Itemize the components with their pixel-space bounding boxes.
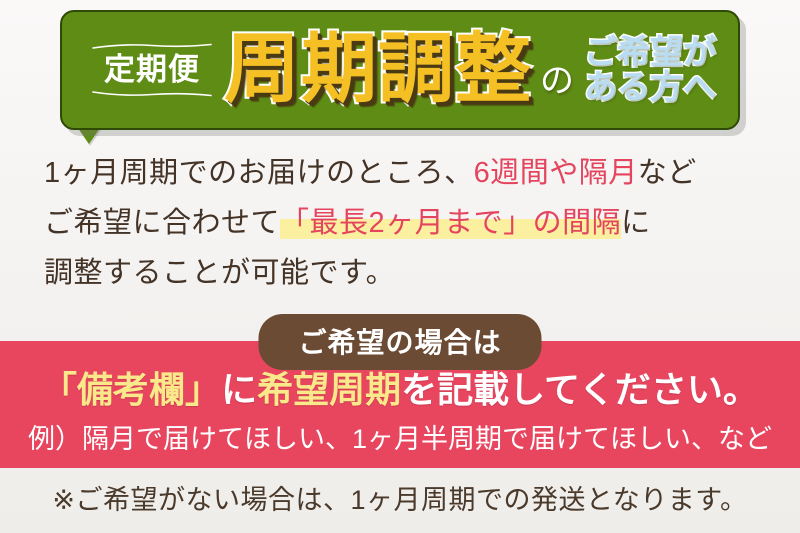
instruction-action: を記載してください。 <box>401 369 759 410</box>
body-line-1-text-a: 1ヶ月周期でのお届けのところ、 <box>44 157 474 189</box>
body-line-2-text-a: ご希望に合わせて <box>44 207 280 239</box>
body-line-2-text-b: に <box>621 207 651 239</box>
subscription-cycle-banner: 定期便 周期調整 の ご希望が ある方へ 1ヶ月周期でのお届けのところ、6週間や… <box>0 0 800 533</box>
banner-header: 定期便 周期調整 の ご希望が ある方へ <box>0 0 800 150</box>
body-line-2: ご希望に合わせて「最長2ヶ月まで」の間隔に <box>0 198 800 248</box>
header-target-line-1: ご希望が <box>584 35 716 70</box>
header-possessive-particle: の <box>540 64 574 98</box>
header-main-title: 周期調整 <box>224 32 532 108</box>
speech-bubble-tail <box>78 128 100 144</box>
body-paragraph: 1ヶ月周期でのお届けのところ、6週間や隔月など ご希望に合わせて「最長2ヶ月まで… <box>0 148 800 298</box>
body-line-1-emphasis: 6週間や隔月 <box>474 157 638 189</box>
body-line-1: 1ヶ月周期でのお届けのところ、6週間や隔月など <box>0 148 800 198</box>
subscription-label: 定期便 <box>104 50 200 91</box>
body-line-3: 調整することが可能です。 <box>0 248 800 298</box>
header-green-box: 定期便 周期調整 の ご希望が ある方へ <box>60 10 740 130</box>
instruction-keyword: 希望周期 <box>257 369 401 410</box>
instruction-example: 例）隔月で届けてほしい、1ヶ月半周期で届けてほしい、など <box>0 417 800 456</box>
wave-line-bottom-icon <box>92 90 212 97</box>
subscription-label-group: 定期便 <box>86 43 218 98</box>
instruction-particle-1: に <box>221 369 257 410</box>
body-line-2-emphasis: 「最長2ヶ月まで」の間隔 <box>280 207 621 239</box>
header-target-line-2: ある方へ <box>584 70 716 105</box>
instruction-field-name: 「備考欄」 <box>41 369 221 410</box>
wave-line-top-icon <box>92 43 212 50</box>
condition-badge: ご希望の場合は <box>258 314 541 370</box>
header-target-audience: ご希望が ある方へ <box>584 35 716 104</box>
default-behavior-note: ※ご希望がない場合は、1ヶ月周期での発送となります。 <box>0 478 800 517</box>
body-line-1-text-b: など <box>638 157 697 189</box>
